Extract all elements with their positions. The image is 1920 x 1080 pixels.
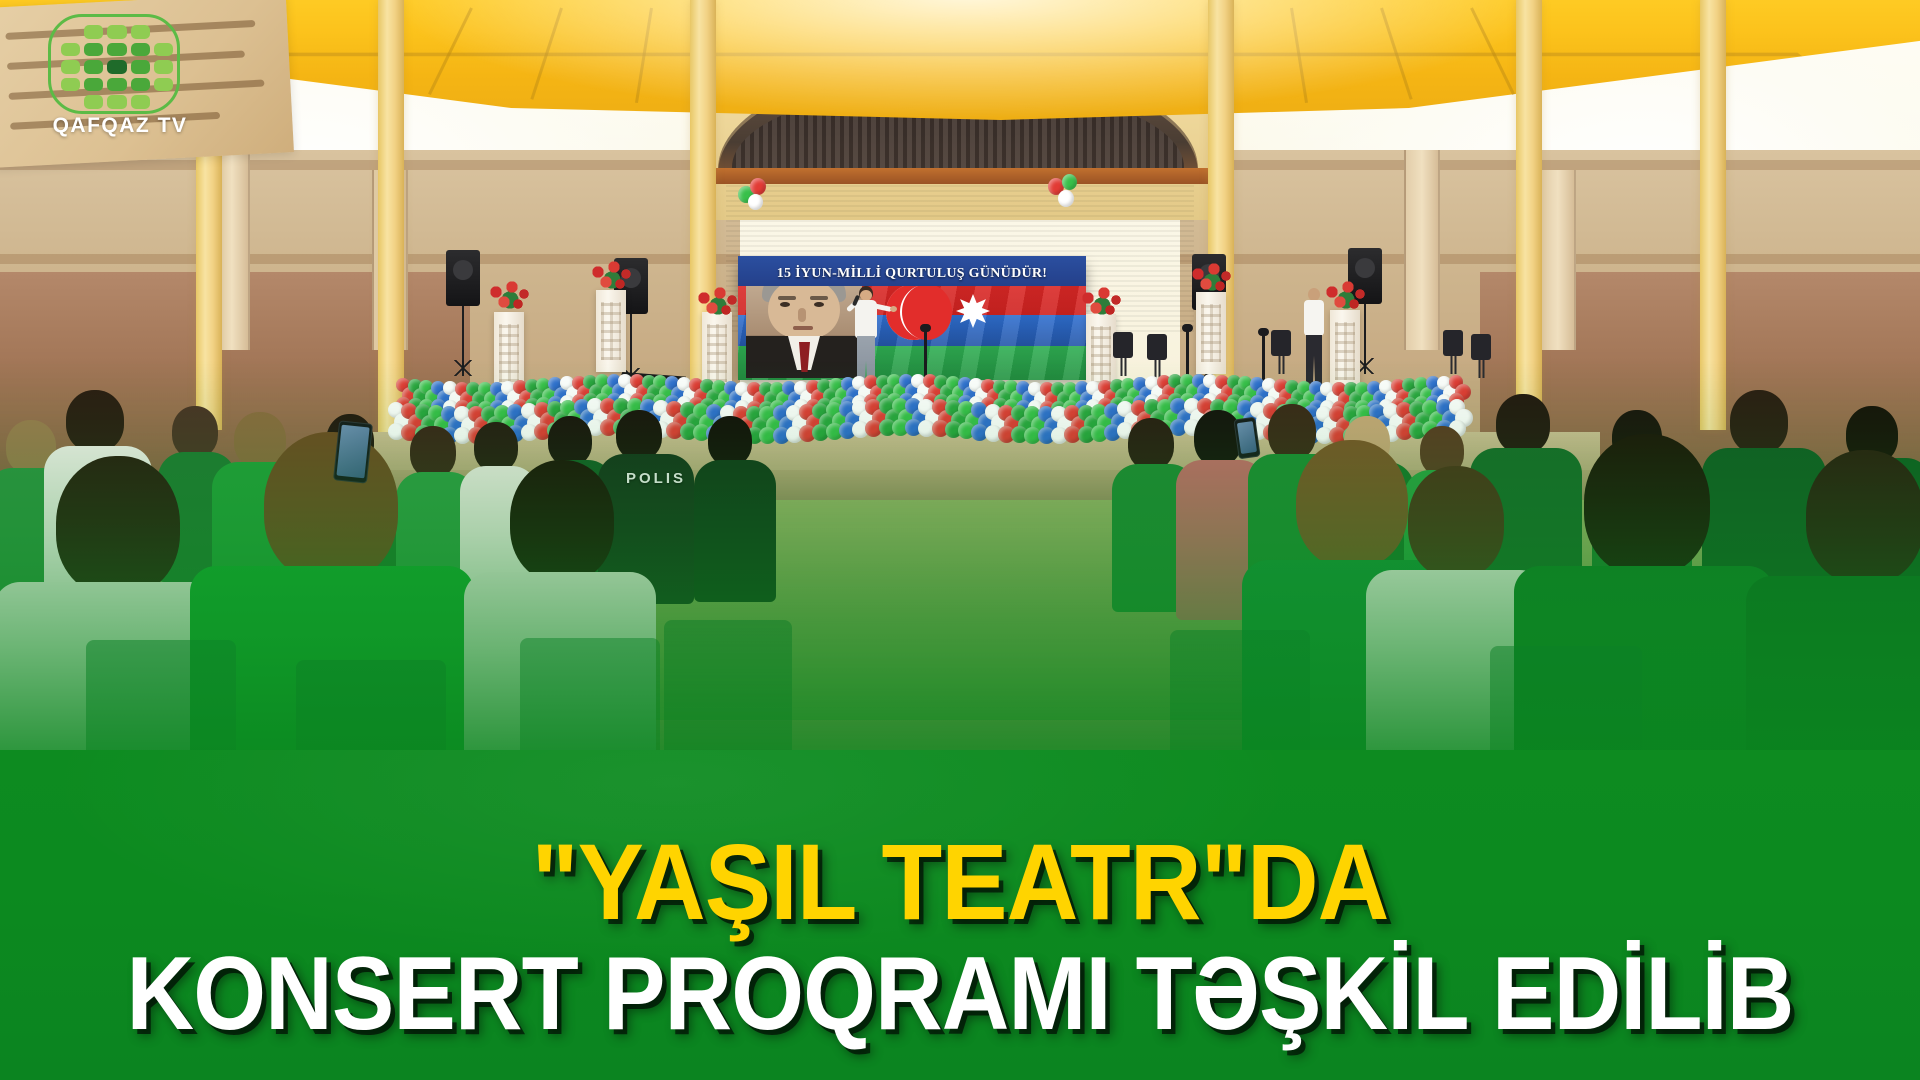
broadcast-screenshot: 15 İYUN-MİLLİ QURTULUŞ GÜNÜDÜR! xyxy=(0,0,1920,1080)
flower-arrangement xyxy=(694,284,742,324)
balloon-cluster xyxy=(1048,174,1088,208)
logo-tile xyxy=(131,25,150,39)
event-banner-text: 15 İYUN-MİLLİ QURTULUŞ GÜNÜDÜR! xyxy=(744,262,1080,286)
logo-tile xyxy=(84,43,103,57)
channel-logo: QAFQAZ TV xyxy=(22,14,218,146)
logo-tile xyxy=(107,60,126,74)
logo-tile xyxy=(84,60,103,74)
logo-tile xyxy=(107,78,126,92)
logo-tile xyxy=(107,95,126,109)
logo-tile xyxy=(107,43,126,57)
logo-tile xyxy=(131,95,150,109)
flower-arrangement xyxy=(486,278,534,318)
flower-arrangement xyxy=(588,258,636,298)
logo-tile xyxy=(61,78,80,92)
channel-name: QAFQAZ TV xyxy=(22,114,218,138)
crescent-icon xyxy=(886,284,942,340)
flower-arrangement xyxy=(1078,284,1126,324)
pilaster xyxy=(1404,150,1440,350)
logo-tile xyxy=(61,60,80,74)
logo-tile xyxy=(131,43,150,57)
logo-tile xyxy=(84,78,103,92)
balloon-cluster xyxy=(736,176,776,210)
headline-line-2: KONSERT PROQRAMI TƏŞKİL EDİLİB xyxy=(96,942,1824,1046)
qafqaz-tv-grid-logo-icon xyxy=(48,14,180,114)
flower-arrangement xyxy=(1322,278,1370,318)
logo-tile xyxy=(131,60,150,74)
logo-tile xyxy=(107,25,126,39)
logo-tile xyxy=(84,25,103,39)
news-headline: "YAŞIL TEATR"DA KONSERT PROQRAMI TƏŞKİL … xyxy=(0,828,1920,1046)
logo-tile xyxy=(84,95,103,109)
roof-glare xyxy=(380,0,1560,120)
logo-tile xyxy=(154,43,173,57)
flower-arrangement xyxy=(1188,260,1236,300)
pa-speaker xyxy=(446,250,480,306)
logo-tile xyxy=(154,60,173,74)
headline-line-1: "YAŞIL TEATR"DA xyxy=(77,828,1843,936)
pilaster xyxy=(1540,170,1576,350)
logo-tile xyxy=(154,78,173,92)
logo-tile xyxy=(61,43,80,57)
logo-tile xyxy=(131,78,150,92)
